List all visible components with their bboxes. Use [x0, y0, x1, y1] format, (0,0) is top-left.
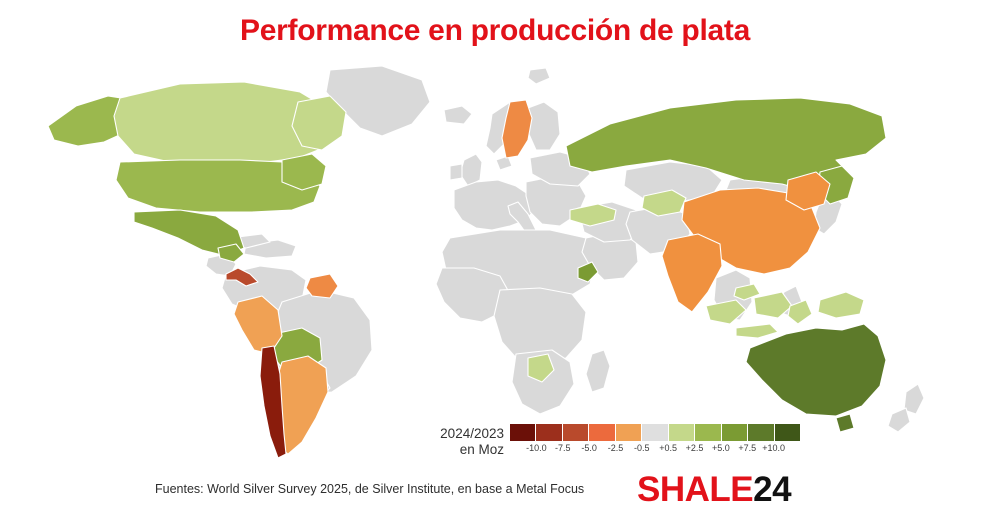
region-british-isles: [460, 154, 482, 186]
logo-number-text: 24: [753, 470, 791, 509]
legend-swatch-4: [616, 424, 642, 441]
region-indonesia-java: [736, 324, 778, 338]
legend-tick-3: -2.5: [608, 443, 624, 453]
infographic-page: Performance en producción de plata: [0, 0, 990, 520]
legend-swatches: [510, 424, 800, 441]
legend-tick-0: -10.0: [526, 443, 547, 453]
legend-swatch-9: [748, 424, 774, 441]
legend-swatch-6: [669, 424, 695, 441]
map-svg: [30, 62, 960, 462]
region-iceland: [444, 106, 472, 124]
shale24-logo[interactable]: SHALE24: [637, 470, 791, 510]
legend-tick-4: -0.5: [634, 443, 650, 453]
legend-swatch-5: [642, 424, 668, 441]
legend-tick-5: +0.5: [659, 443, 677, 453]
legend-swatch-0: [510, 424, 536, 441]
region-finland: [528, 102, 560, 150]
legend-tick-7: +5.0: [712, 443, 730, 453]
source-note: Fuentes: World Silver Survey 2025, de Si…: [155, 482, 584, 496]
legend: 2024/2023 en Moz -10.0-7.5-5.0-2.5-0.5+0…: [418, 424, 818, 470]
legend-swatch-3: [589, 424, 615, 441]
legend-tick-9: +10.0: [762, 443, 785, 453]
page-title: Performance en producción de plata: [0, 14, 990, 48]
region-new-zealand-south: [888, 408, 910, 432]
region-ireland: [450, 164, 462, 180]
region-tasmania: [836, 414, 854, 432]
legend-title-line1: 2024/2023: [418, 426, 504, 442]
legend-tick-6: +2.5: [686, 443, 704, 453]
legend-title: 2024/2023 en Moz: [418, 426, 504, 458]
legend-swatch-10: [775, 424, 800, 441]
region-canada-east: [292, 96, 346, 150]
legend-swatch-1: [536, 424, 562, 441]
world-choropleth-map: [30, 62, 960, 462]
legend-swatch-8: [722, 424, 748, 441]
legend-ticks: -10.0-7.5-5.0-2.5-0.5+0.5+2.5+5.0+7.5+10…: [510, 443, 800, 457]
legend-swatch-7: [695, 424, 721, 441]
legend-tick-1: -7.5: [555, 443, 571, 453]
region-denmark: [496, 156, 512, 170]
region-india: [662, 234, 722, 312]
legend-swatch-2: [563, 424, 589, 441]
legend-tick-2: -5.0: [581, 443, 597, 453]
region-papua-new-guinea: [818, 292, 864, 318]
legend-tick-8: +7.5: [738, 443, 756, 453]
legend-title-line2: en Moz: [418, 442, 504, 458]
legend-scale: -10.0-7.5-5.0-2.5-0.5+0.5+2.5+5.0+7.5+10…: [510, 424, 800, 457]
logo-brand-text: SHALE: [637, 470, 753, 509]
region-us-east: [282, 154, 326, 190]
region-australia: [746, 324, 886, 416]
region-madagascar: [586, 350, 610, 392]
region-svalbard: [528, 68, 550, 84]
